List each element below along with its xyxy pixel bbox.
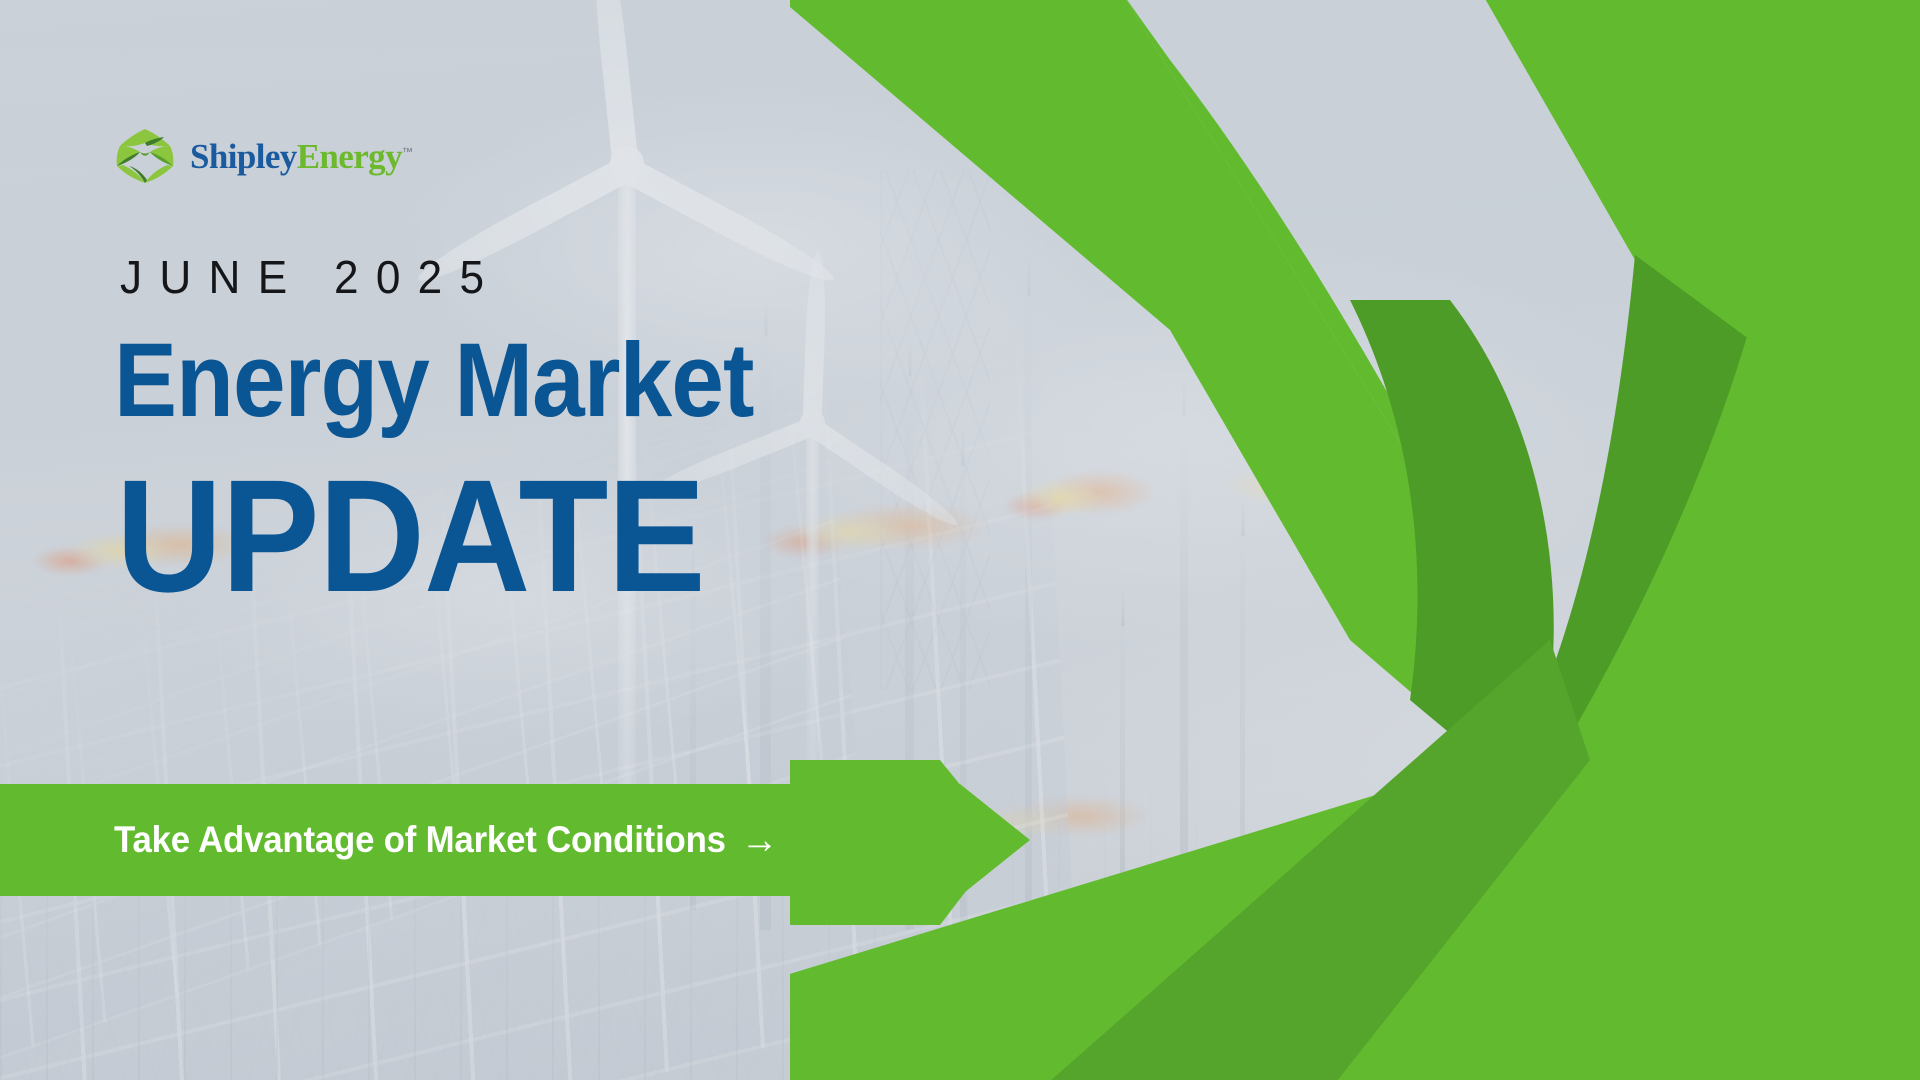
cta-banner[interactable]: Take Advantage of Market Conditions → bbox=[0, 784, 1030, 896]
arrow-right-icon: → bbox=[741, 820, 778, 860]
logo-wordmark: ShipleyEnergy™ bbox=[190, 139, 412, 174]
shipley-leaf-diamond-icon bbox=[114, 127, 176, 185]
green-x-ribbon-graphic bbox=[790, 0, 1920, 1080]
cta-label-row[interactable]: Take Advantage of Market Conditions → bbox=[114, 784, 778, 896]
headline-line-2: UPDATE bbox=[116, 460, 705, 612]
headline-line-1: Energy Market bbox=[114, 330, 754, 433]
green-x-ribbon-svg bbox=[790, 0, 1920, 1080]
logo-trademark: ™ bbox=[402, 146, 412, 158]
cta-label: Take Advantage of Market Conditions bbox=[114, 819, 726, 861]
logo-word-energy: Energy bbox=[297, 137, 402, 176]
issue-date-eyebrow: JUNE 2025 bbox=[120, 250, 501, 304]
energy-market-update-banner: ShipleyEnergy™ JUNE 2025 Energy Market U… bbox=[0, 0, 1920, 1080]
logo-word-shipley: Shipley bbox=[190, 137, 297, 176]
shipley-energy-logo[interactable]: ShipleyEnergy™ bbox=[114, 127, 412, 185]
